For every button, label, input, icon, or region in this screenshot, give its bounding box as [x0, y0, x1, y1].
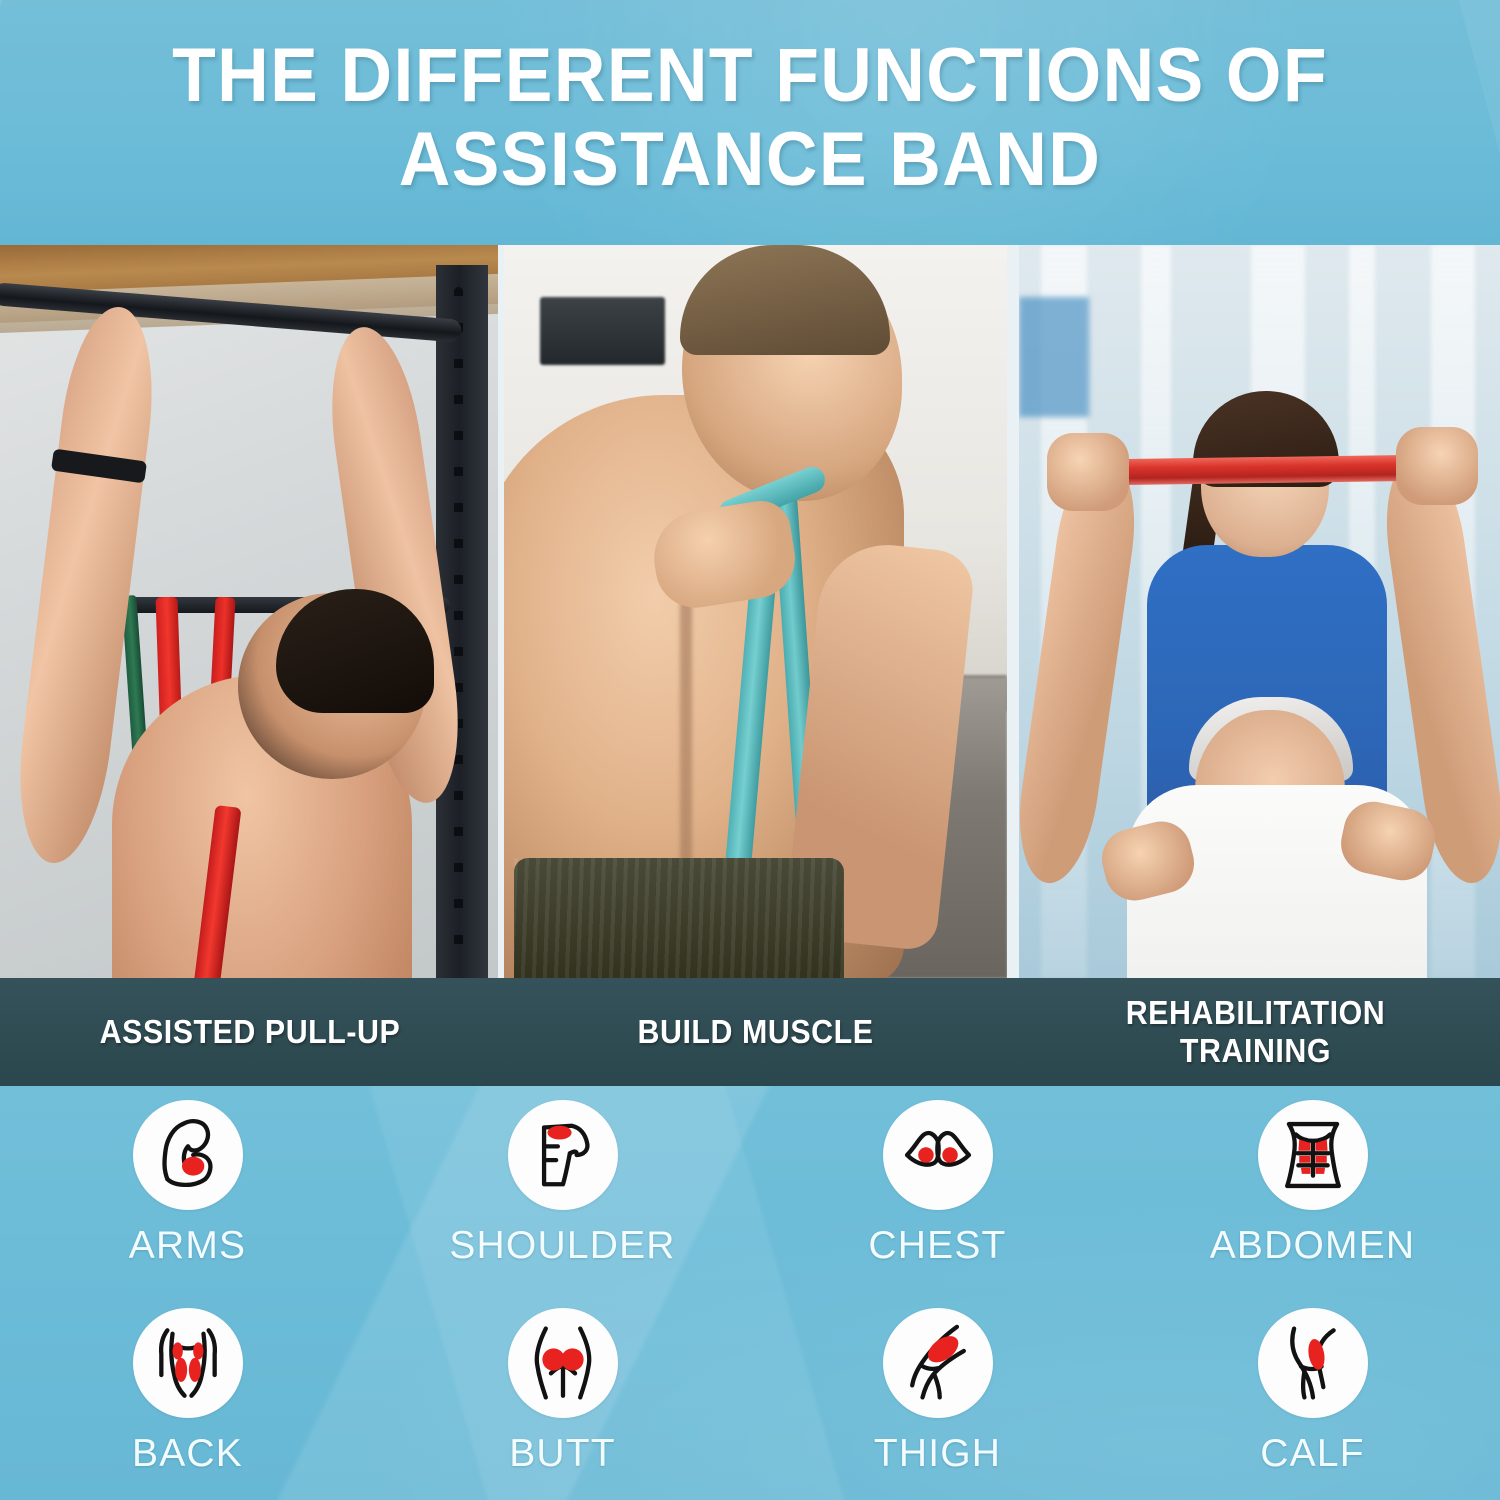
- page-title-line-1: THE DIFFERENT FUNCTIONS OF: [45, 34, 1455, 118]
- muscle-group-row-lower: BACK BUTT: [0, 1308, 1500, 1476]
- glutes-icon: [520, 1320, 606, 1406]
- muscle-group-label: BUTT: [509, 1432, 616, 1476]
- header-banner: THE DIFFERENT FUNCTIONS OF ASSISTANCE BA…: [0, 0, 1500, 245]
- caption-bar: ASSISTED PULL-UP BUILD MUSCLE REHABILITA…: [0, 978, 1500, 1086]
- red-therapy-band: [1093, 455, 1439, 486]
- icon-badge: [508, 1100, 618, 1210]
- muscle-highlight: [547, 1126, 571, 1140]
- muscle-highlight: [193, 1342, 203, 1359]
- back-muscles-icon: [145, 1320, 231, 1406]
- muscle-highlight: [1300, 1168, 1309, 1174]
- muscle-highlight: [172, 1342, 182, 1359]
- page-title-line-2: ASSISTANCE BAND: [45, 118, 1455, 202]
- caption-build-muscle: BUILD MUSCLE: [520, 1013, 990, 1051]
- muscle-group-abdomen[interactable]: ABDOMEN: [1125, 1100, 1500, 1268]
- photo-assisted-pull-up: [0, 245, 498, 978]
- icon-badge: [133, 1308, 243, 1418]
- caption-rehabilitation-training: REHABILITATION TRAINING: [1031, 994, 1481, 1070]
- flexed-bicep-icon: [145, 1112, 231, 1198]
- page-title: THE DIFFERENT FUNCTIONS OF ASSISTANCE BA…: [0, 34, 1500, 202]
- icon-badge: [883, 1308, 993, 1418]
- icon-badge: [883, 1100, 993, 1210]
- muscle-group-label: ARMS: [129, 1224, 246, 1268]
- muscle-highlight: [175, 1358, 187, 1382]
- muscle-highlight: [561, 1348, 583, 1370]
- pectoral-muscles-icon: [895, 1112, 981, 1198]
- muscle-group-back[interactable]: BACK: [0, 1308, 375, 1476]
- caption-rehab-line-2: TRAINING: [1031, 1032, 1481, 1070]
- muscle-highlight: [1315, 1168, 1324, 1174]
- shoulder-deltoid-icon: [520, 1112, 606, 1198]
- muscle-group-arms[interactable]: ARMS: [0, 1100, 375, 1268]
- muscle-group-chest[interactable]: CHEST: [750, 1100, 1125, 1268]
- muscle-group-calf[interactable]: CALF: [1125, 1308, 1500, 1476]
- muscle-group-label: ABDOMEN: [1210, 1224, 1416, 1268]
- muscle-group-label: CHEST: [868, 1224, 1006, 1268]
- muscle-group-shoulder[interactable]: SHOULDER: [375, 1100, 750, 1268]
- photo-rehabilitation-training: [1019, 245, 1500, 978]
- muscle-highlight: [1299, 1156, 1310, 1163]
- muscle-group-label: SHOULDER: [449, 1224, 675, 1268]
- muscle-group-label: CALF: [1260, 1432, 1365, 1476]
- muscle-highlight: [181, 1157, 203, 1176]
- six-pack-abs-icon: [1270, 1112, 1356, 1198]
- icon-badge: [133, 1100, 243, 1210]
- muscle-highlight: [918, 1147, 933, 1162]
- muscle-highlight: [1315, 1156, 1326, 1163]
- muscle-group-butt[interactable]: BUTT: [375, 1308, 750, 1476]
- muscle-highlight: [188, 1358, 200, 1382]
- muscle-group-label: BACK: [132, 1432, 243, 1476]
- caption-assisted-pull-up: ASSISTED PULL-UP: [20, 1013, 480, 1051]
- calf-muscle-icon: [1270, 1320, 1356, 1406]
- icon-badge: [508, 1308, 618, 1418]
- muscle-group-grid: ARMS SHOULDER: [0, 1086, 1500, 1500]
- muscle-group-row-upper: ARMS SHOULDER: [0, 1100, 1500, 1268]
- icon-badge: [1258, 1308, 1368, 1418]
- icon-badge: [1258, 1100, 1368, 1210]
- photo-strip: [0, 245, 1500, 978]
- thigh-quadriceps-icon: [895, 1320, 981, 1406]
- photo-build-muscle: [504, 245, 1007, 978]
- caption-rehab-line-1: REHABILITATION: [1031, 994, 1481, 1032]
- muscle-highlight: [942, 1147, 957, 1162]
- muscle-group-thigh[interactable]: THIGH: [750, 1308, 1125, 1476]
- muscle-group-label: THIGH: [874, 1432, 1001, 1476]
